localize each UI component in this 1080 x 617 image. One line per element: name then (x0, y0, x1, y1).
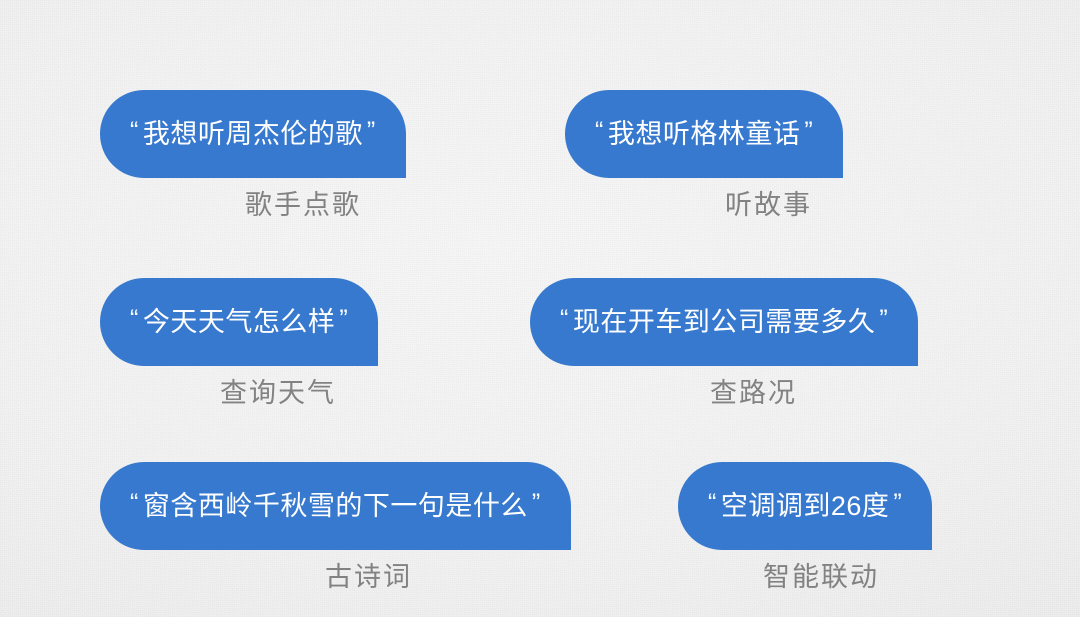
suggestion-cell-story-request: “ 我想听格林童话 ” 听故事 (565, 90, 843, 219)
suggestion-phrase: 我想听格林童话 (608, 121, 801, 148)
suggestion-phrase: 今天天气怎么样 (143, 309, 336, 336)
suggestion-cell-weather-query: “ 今天天气怎么样 ” 查询天气 (100, 278, 378, 407)
suggestion-chip-singer-request[interactable]: “ 我想听周杰伦的歌 ” (100, 90, 406, 178)
suggestion-caption-story-request: 听故事 (565, 192, 843, 219)
suggestion-phrase: 窗含西岭千秋雪的下一句是什么 (143, 493, 528, 520)
suggestion-phrase: 现在开车到公司需要多久 (573, 309, 876, 336)
close-quote-glyph: ” (893, 491, 902, 516)
open-quote-glyph: “ (130, 119, 139, 144)
close-quote-glyph: ” (367, 119, 376, 144)
suggestion-cell-smart-home-ac: “ 空调调到26度 ” 智能联动 (678, 462, 932, 591)
suggestion-phrase: 我想听周杰伦的歌 (143, 121, 363, 148)
open-quote-glyph: “ (560, 307, 569, 332)
open-quote-glyph: “ (595, 119, 604, 144)
suggestion-chip-traffic-query[interactable]: “ 现在开车到公司需要多久 ” (530, 278, 918, 366)
close-quote-glyph: ” (804, 119, 813, 144)
open-quote-glyph: “ (708, 491, 717, 516)
close-quote-glyph: ” (339, 307, 348, 332)
suggestion-phrase: 空调调到26度 (721, 493, 890, 520)
suggestion-chip-story-request[interactable]: “ 我想听格林童话 ” (565, 90, 843, 178)
suggestion-cell-traffic-query: “ 现在开车到公司需要多久 ” 查路况 (530, 278, 918, 407)
close-quote-glyph: ” (532, 491, 541, 516)
suggestion-caption-poetry-query: 古诗词 (100, 564, 571, 591)
suggestion-chip-poetry-query[interactable]: “ 窗含西岭千秋雪的下一句是什么 ” (100, 462, 571, 550)
open-quote-glyph: “ (130, 491, 139, 516)
suggestion-caption-traffic-query: 查路况 (530, 380, 918, 407)
suggestion-cell-poetry-query: “ 窗含西岭千秋雪的下一句是什么 ” 古诗词 (100, 462, 571, 591)
suggestion-caption-smart-home-ac: 智能联动 (678, 564, 932, 591)
open-quote-glyph: “ (130, 307, 139, 332)
close-quote-glyph: ” (879, 307, 888, 332)
suggestion-caption-weather-query: 查询天气 (100, 380, 378, 407)
suggestion-cell-singer-request: “ 我想听周杰伦的歌 ” 歌手点歌 (100, 90, 406, 219)
suggestion-chip-smart-home-ac[interactable]: “ 空调调到26度 ” (678, 462, 932, 550)
suggestion-board: “ 我想听周杰伦的歌 ” 歌手点歌 “ 我想听格林童话 ” 听故事 “ 今天天气… (0, 0, 1080, 617)
suggestion-caption-singer-request: 歌手点歌 (100, 192, 406, 219)
suggestion-chip-weather-query[interactable]: “ 今天天气怎么样 ” (100, 278, 378, 366)
